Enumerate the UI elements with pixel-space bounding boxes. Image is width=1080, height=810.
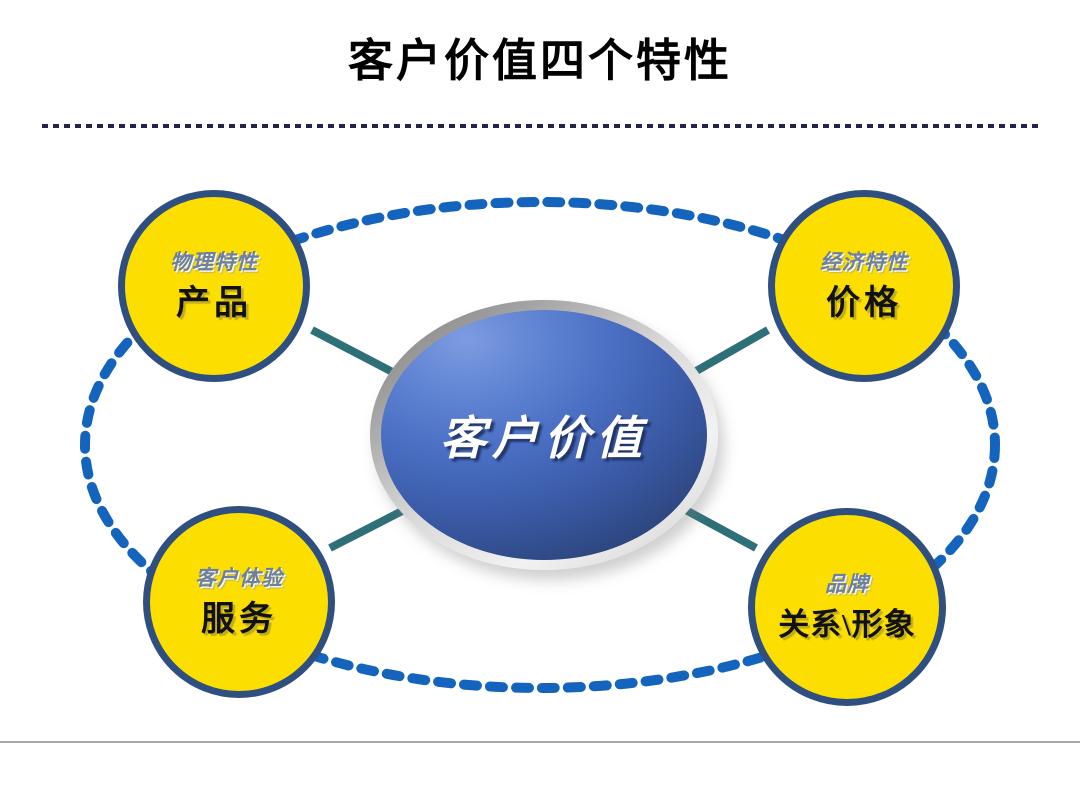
node-brand-label: 关系\形象 <box>778 609 916 640</box>
page-title: 客户价值四个特性 <box>0 36 1080 88</box>
title-area: 客户价值四个特性 <box>0 36 1080 88</box>
diagram-container: 客户价值 物理特性 产品 经济特性 价格 客户体验 服务 品牌 关系\形象 <box>0 140 1080 730</box>
node-price[interactable]: 经济特性 价格 <box>768 190 960 382</box>
slide-canvas: 客户价值四个特性 客户价值 物理特性 产品 经济特性 价格 <box>0 0 1080 810</box>
node-price-label: 价格 <box>826 287 902 321</box>
node-service-sublabel: 客户体验 <box>195 568 283 589</box>
center-node[interactable]: 客户价值 <box>370 300 718 570</box>
node-service[interactable]: 客户体验 服务 <box>143 506 335 698</box>
title-divider <box>42 124 1038 128</box>
node-service-label: 服务 <box>201 603 277 637</box>
node-product-label: 产品 <box>176 287 252 321</box>
node-brand[interactable]: 品牌 关系\形象 <box>748 508 946 706</box>
node-product-sublabel: 物理特性 <box>170 252 258 273</box>
node-brand-sublabel: 品牌 <box>825 574 869 595</box>
center-node-label: 客户价值 <box>381 310 707 560</box>
node-price-sublabel: 经济特性 <box>820 252 908 273</box>
footer-rule <box>0 741 1080 743</box>
node-product[interactable]: 物理特性 产品 <box>118 190 310 382</box>
center-node-body: 客户价值 <box>381 310 707 560</box>
